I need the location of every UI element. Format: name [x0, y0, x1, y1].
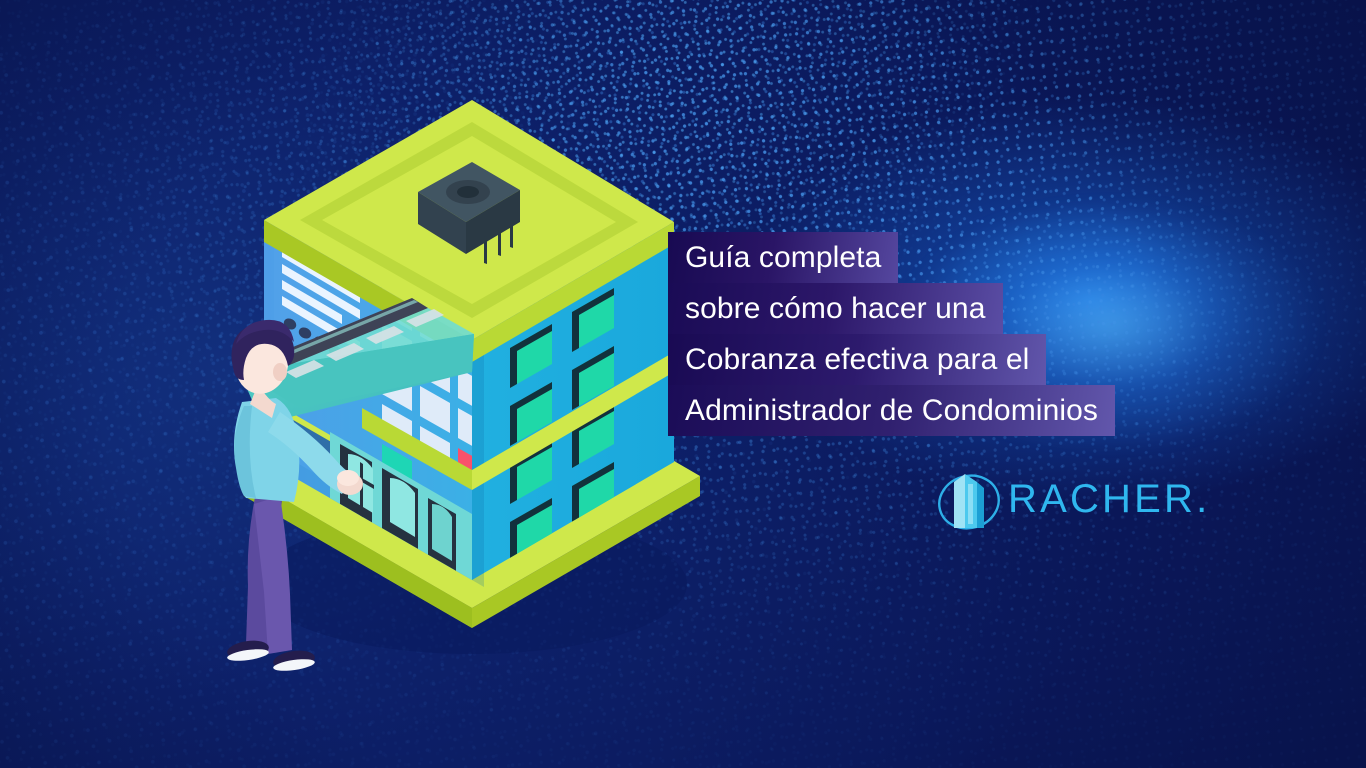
- isometric-atm-building-illustration: [222, 72, 722, 652]
- headline-line-3: Cobranza efectiva para el: [668, 334, 1046, 385]
- bracher-logo[interactable]: RACHER.: [932, 466, 1210, 532]
- headline-row-1: Guía completa: [668, 232, 1268, 283]
- bracher-tower-logo-icon: [932, 466, 1006, 532]
- headline-line-4: Administrador de Condominios: [668, 385, 1115, 436]
- bracher-wordmark: RACHER.: [1008, 479, 1210, 519]
- headline-row-2: sobre cómo hacer una: [668, 283, 1268, 334]
- headline-row-3: Cobranza efectiva para el: [668, 334, 1268, 385]
- banner-canvas: Guía completa sobre cómo hacer una Cobra…: [0, 0, 1366, 768]
- headline-block: Guía completa sobre cómo hacer una Cobra…: [668, 232, 1268, 436]
- headline-line-1: Guía completa: [668, 232, 898, 283]
- headline-row-4: Administrador de Condominios: [668, 385, 1268, 436]
- headline-line-2: sobre cómo hacer una: [668, 283, 1003, 334]
